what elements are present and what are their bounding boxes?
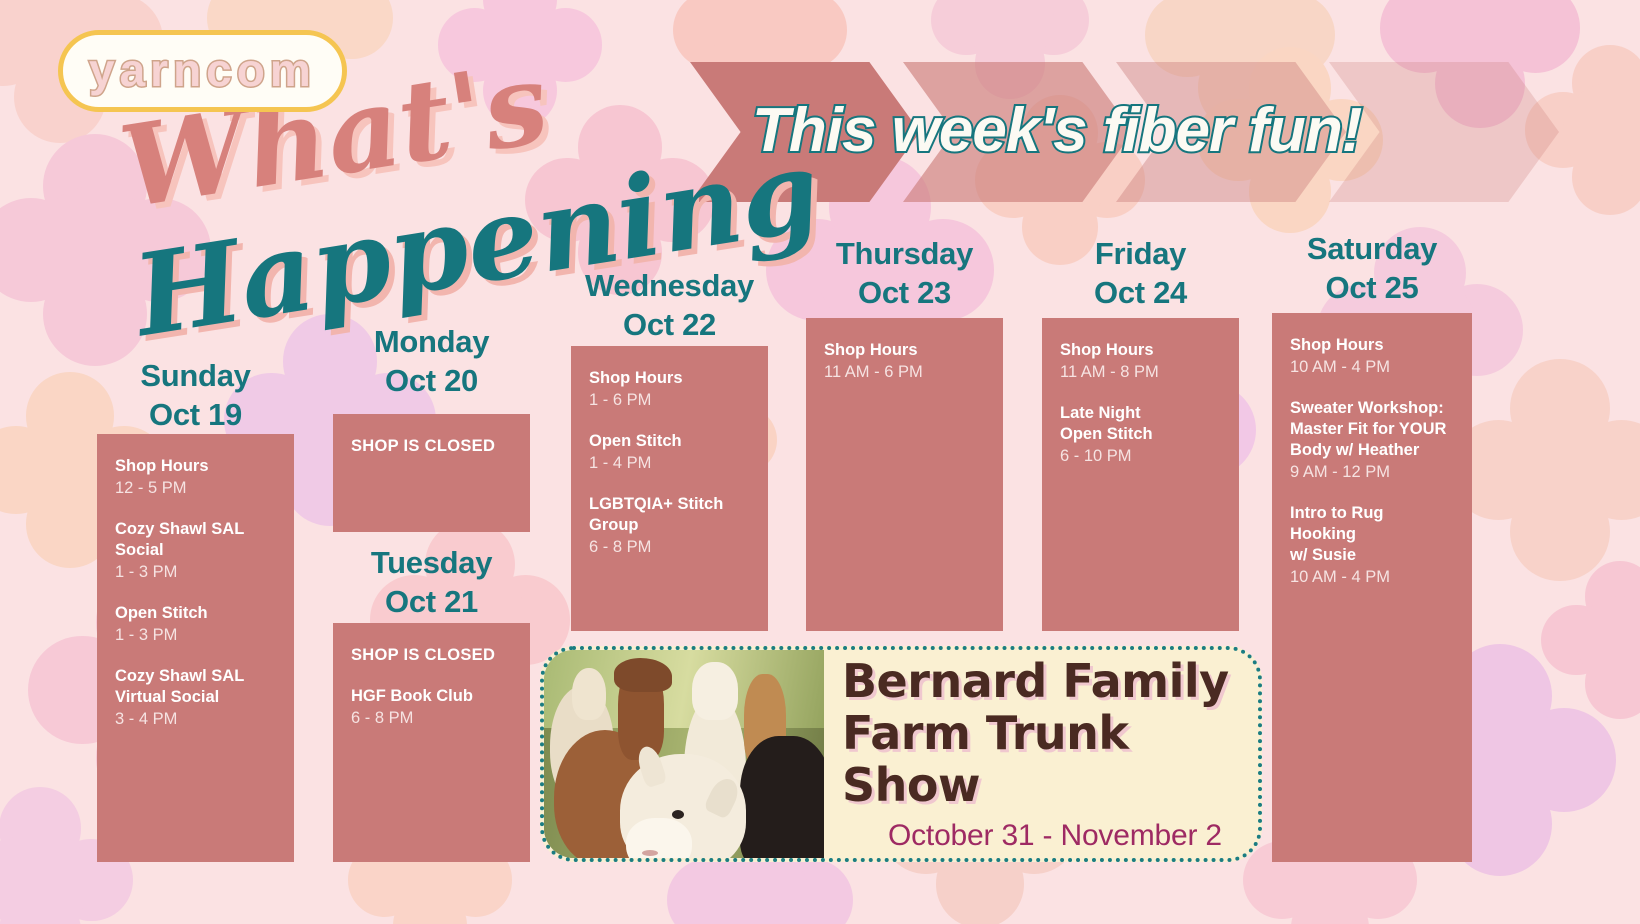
- alpaca-brown-head: [614, 658, 672, 692]
- day-heading: ThursdayOct 23: [806, 234, 1003, 312]
- header-banner-title: This week's fiber fun!: [752, 95, 1361, 166]
- day-date: Oct 25: [1272, 268, 1472, 307]
- event-name: SHOP IS CLOSED: [351, 645, 512, 666]
- poster-canvas: This week's fiber fun! yarncom What's Ha…: [0, 0, 1640, 924]
- event-entry: Shop Hours1 - 6 PM: [589, 368, 750, 411]
- alpaca-head-back-left: [572, 668, 606, 720]
- event-entry: Open Stitch1 - 3 PM: [115, 603, 276, 646]
- day-date: Oct 19: [97, 395, 294, 434]
- event-time: 9 AM - 12 PM: [1290, 462, 1454, 483]
- event-name: Shop Hours: [1060, 340, 1221, 361]
- day-heading: SundayOct 19: [97, 356, 294, 434]
- alpaca-nose: [642, 850, 658, 856]
- alpaca-white-back-head: [692, 662, 738, 720]
- event-entry: Open Stitch1 - 4 PM: [589, 431, 750, 474]
- alpaca-black: [740, 736, 824, 858]
- event-entry: Shop Hours11 AM - 6 PM: [824, 340, 985, 383]
- event-entry: HGF Book Club6 - 8 PM: [351, 686, 512, 729]
- day-column-saturday: SaturdayOct 25Shop Hours10 AM - 4 PMSwea…: [1272, 229, 1472, 862]
- event-time: 3 - 4 PM: [115, 709, 276, 730]
- day-card[interactable]: SHOP IS CLOSEDHGF Book Club6 - 8 PM: [333, 623, 530, 862]
- event-name: Cozy Shawl SAL Virtual Social: [115, 666, 276, 708]
- trunk-show-title: Bernard Family Farm Trunk Show: [842, 655, 1258, 811]
- event-name: Cozy Shawl SAL Social: [115, 519, 276, 561]
- event-time: 11 AM - 8 PM: [1060, 362, 1221, 383]
- event-name: LGBTQIA+ Stitch Group: [589, 494, 750, 536]
- day-weekday: Sunday: [97, 356, 294, 395]
- event-time: 6 - 10 PM: [1060, 446, 1221, 467]
- event-name: Shop Hours: [115, 456, 276, 477]
- trunk-show-dates: October 31 - November 2: [842, 819, 1258, 853]
- event-name: Intro to Rug Hooking w/ Susie: [1290, 503, 1454, 566]
- event-entry: Cozy Shawl SAL Virtual Social3 - 4 PM: [115, 666, 276, 730]
- alpaca-photo: [544, 650, 824, 858]
- logo-wordmark: yarncom: [89, 47, 316, 93]
- day-date: Oct 20: [333, 361, 530, 400]
- event-time: 6 - 8 PM: [589, 537, 750, 558]
- event-time: 12 - 5 PM: [115, 478, 276, 499]
- event-time: 6 - 8 PM: [351, 708, 512, 729]
- event-name: Sweater Workshop: Master Fit for YOUR Bo…: [1290, 398, 1454, 461]
- event-name: Shop Hours: [824, 340, 985, 361]
- alpaca-muzzle: [626, 818, 692, 858]
- chevron-shape-4: [1329, 62, 1559, 202]
- day-weekday: Friday: [1042, 234, 1239, 273]
- event-entry: Late Night Open Stitch6 - 10 PM: [1060, 403, 1221, 467]
- day-card[interactable]: Shop Hours1 - 6 PMOpen Stitch1 - 4 PMLGB…: [571, 346, 768, 631]
- event-name: Shop Hours: [1290, 335, 1454, 356]
- alpaca-eye: [672, 810, 684, 819]
- event-name: Late Night Open Stitch: [1060, 403, 1221, 445]
- event-name: HGF Book Club: [351, 686, 512, 707]
- event-entry: SHOP IS CLOSED: [351, 436, 512, 457]
- day-heading: FridayOct 24: [1042, 234, 1239, 312]
- day-card[interactable]: SHOP IS CLOSED: [333, 414, 530, 532]
- event-time: 1 - 3 PM: [115, 562, 276, 583]
- day-weekday: Saturday: [1272, 229, 1472, 268]
- event-name: Open Stitch: [115, 603, 276, 624]
- event-entry: Shop Hours12 - 5 PM: [115, 456, 276, 499]
- event-entry: Sweater Workshop: Master Fit for YOUR Bo…: [1290, 398, 1454, 483]
- event-entry: SHOP IS CLOSED: [351, 645, 512, 666]
- event-name: Open Stitch: [589, 431, 750, 452]
- day-heading: TuesdayOct 21: [333, 543, 530, 621]
- event-entry: Intro to Rug Hooking w/ Susie10 AM - 4 P…: [1290, 503, 1454, 588]
- day-card[interactable]: Shop Hours11 AM - 6 PM: [806, 318, 1003, 631]
- trunk-show-banner[interactable]: Bernard Family Farm Trunk Show October 3…: [540, 646, 1262, 862]
- event-time: 1 - 4 PM: [589, 453, 750, 474]
- day-column-monday: MondayOct 20SHOP IS CLOSED: [333, 322, 530, 532]
- day-weekday: Tuesday: [333, 543, 530, 582]
- day-heading: MondayOct 20: [333, 322, 530, 400]
- day-date: Oct 24: [1042, 273, 1239, 312]
- day-card[interactable]: Shop Hours11 AM - 8 PMLate Night Open St…: [1042, 318, 1239, 631]
- day-date: Oct 23: [806, 273, 1003, 312]
- event-time: 10 AM - 4 PM: [1290, 357, 1454, 378]
- event-name: Shop Hours: [589, 368, 750, 389]
- day-column-friday: FridayOct 24Shop Hours11 AM - 8 PMLate N…: [1042, 234, 1239, 631]
- day-card[interactable]: Shop Hours10 AM - 4 PMSweater Workshop: …: [1272, 313, 1472, 862]
- trunk-show-text: Bernard Family Farm Trunk Show October 3…: [824, 650, 1258, 858]
- yarncom-logo: yarncom: [58, 30, 347, 112]
- event-time: 11 AM - 6 PM: [824, 362, 985, 383]
- day-weekday: Thursday: [806, 234, 1003, 273]
- day-heading: SaturdayOct 25: [1272, 229, 1472, 307]
- day-card[interactable]: Shop Hours12 - 5 PMCozy Shawl SAL Social…: [97, 434, 294, 862]
- day-column-tuesday: TuesdayOct 21SHOP IS CLOSEDHGF Book Club…: [333, 543, 530, 862]
- day-column-sunday: SundayOct 19Shop Hours12 - 5 PMCozy Shaw…: [97, 356, 294, 862]
- day-column-thursday: ThursdayOct 23Shop Hours11 AM - 6 PM: [806, 234, 1003, 631]
- event-entry: Cozy Shawl SAL Social1 - 3 PM: [115, 519, 276, 583]
- event-name: SHOP IS CLOSED: [351, 436, 512, 457]
- event-entry: LGBTQIA+ Stitch Group6 - 8 PM: [589, 494, 750, 558]
- event-entry: Shop Hours10 AM - 4 PM: [1290, 335, 1454, 378]
- event-time: 10 AM - 4 PM: [1290, 567, 1454, 588]
- day-date: Oct 21: [333, 582, 530, 621]
- event-time: 1 - 3 PM: [115, 625, 276, 646]
- event-time: 1 - 6 PM: [589, 390, 750, 411]
- event-entry: Shop Hours11 AM - 8 PM: [1060, 340, 1221, 383]
